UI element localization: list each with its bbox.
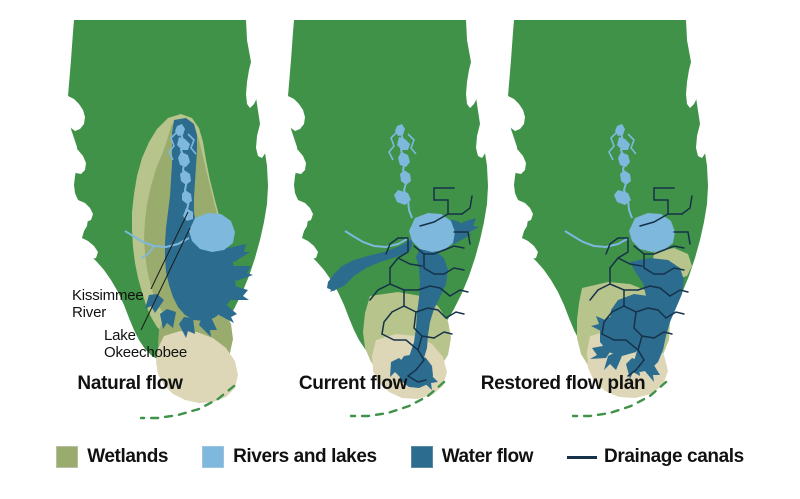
legend-label-wetlands: Wetlands <box>87 446 168 468</box>
legend: Wetlands Rivers and lakes Water flow Dra… <box>0 434 800 480</box>
legend-label-drainage-canals: Drainage canals <box>604 446 744 468</box>
map-panel-restored-flow-plan[interactable] <box>478 0 738 425</box>
legend-label-rivers-and-lakes: Rivers and lakes <box>233 446 377 468</box>
legend-item-wetlands[interactable]: Wetlands <box>56 446 168 468</box>
callout-kissimmee-river: Kissimmee River <box>72 288 144 322</box>
panel-title-current-flow: Current flow <box>268 373 438 394</box>
legend-item-water-flow[interactable]: Water flow <box>411 446 533 468</box>
panel-title-natural-flow: Natural flow <box>45 373 215 394</box>
everglades-flow-infographic: Kissimmee River Lake Okeechobee Natural … <box>0 0 800 499</box>
wetlands-swatch-icon <box>56 446 78 468</box>
legend-item-rivers-and-lakes[interactable]: Rivers and lakes <box>202 446 377 468</box>
callout-lake-okeechobee: Lake Okeechobee <box>104 328 187 362</box>
rivers-and-lakes-swatch-icon <box>202 446 224 468</box>
legend-label-water-flow: Water flow <box>442 446 533 468</box>
map-panel-group: Kissimmee River Lake Okeechobee Natural … <box>0 0 800 425</box>
drainage-canal-line-icon <box>567 446 597 468</box>
water-flow-swatch-icon <box>411 446 433 468</box>
florida-map-restored-flow-plan <box>478 0 738 425</box>
panel-title-restored-flow-plan: Restored flow plan <box>478 373 648 394</box>
legend-item-drainage-canals[interactable]: Drainage canals <box>567 446 744 468</box>
